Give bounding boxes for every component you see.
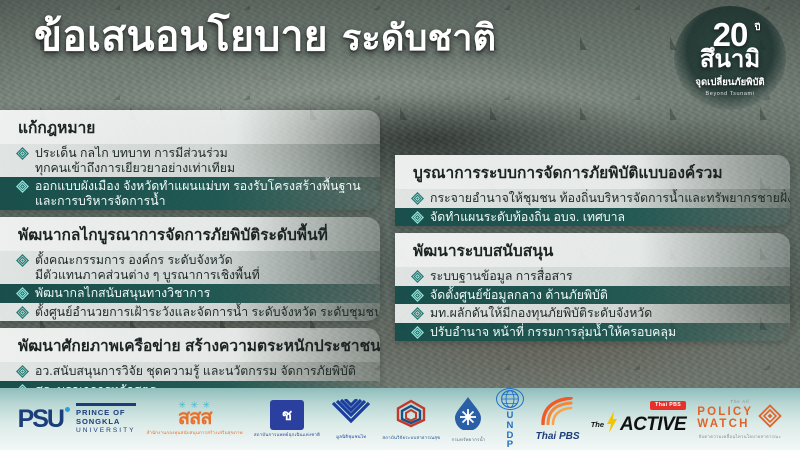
diamond-bullet-icon (411, 289, 424, 302)
thaihealth-caption: สำนักงานกองทุนสนับสนุนการสร้างเสริมสุขภา… (147, 430, 243, 436)
policy-row-text: ออกแบบผังเมือง จังหวัดทำแผนแม่บท รองรับโ… (35, 179, 361, 208)
policy-row-text: ระบบฐานข้อมูล การสื่อสาร (430, 269, 573, 284)
psu-line2: SONGKLA (76, 417, 136, 427)
policy-row-text: อว.สนับสนุนการวิจัย ชุดความรู้ และนวัตกร… (35, 364, 356, 379)
diamond-bullet-icon (411, 307, 424, 320)
policy-watch-line1: POLICY (697, 406, 753, 418)
thaihealth-mark: สสส (178, 408, 212, 428)
the-active-bolt-icon (606, 411, 618, 438)
policy-row-line: และการบริหารจัดการน้ำ (35, 194, 361, 209)
thaipbs-swoosh-icon (537, 397, 579, 430)
psu-dot-icon (65, 407, 70, 412)
thaipbs-wordmark: Thai PBS (536, 431, 580, 442)
policy-row: จัดทำแผนระดับท้องถิ่น อบจ. เทศบาล (395, 208, 790, 227)
policy-row: พัฒนากลไกสนับสนุนทางวิชาการ (0, 284, 380, 303)
page-title-main: ข้อเสนอนโยบาย (34, 16, 328, 57)
logo-emergency-institute: ช สถาบันการแพทย์ฉุกเฉินแห่งชาติ (254, 396, 320, 442)
page-title: ข้อเสนอนโยบาย ระดับชาติ (34, 16, 496, 57)
panel-rows: ระบบฐานข้อมูล การสื่อสารจัดตั้งศูนย์ข้อม… (395, 267, 790, 341)
logo-thaihealth: ✳ ✳ ✳ สสส สำนักงานกองทุนสนับสนุนการสร้าง… (147, 396, 243, 442)
diamond-bullet-icon (16, 254, 29, 267)
policy-row-line: อว.สนับสนุนการวิจัย ชุดความรู้ และนวัตกร… (35, 364, 356, 379)
the-active-wordmark: The ACTIVE (591, 411, 686, 438)
policy-panel-left-2: พัฒนากลไกบูรณาการจัดการภัยพิบัติระดับพื้… (0, 217, 380, 321)
policy-row-text: กระจายอำนาจให้ชุมชน ท้องถิ่นบริหารจัดการ… (430, 191, 790, 206)
policy-row: ออกแบบผังเมือง จังหวัดทำแผนแม่บท รองรับโ… (0, 177, 380, 210)
policy-row: ตั้งคณะกรรมการ องค์กร ระดับจังหวัดมีตัวแ… (0, 251, 380, 284)
psu-mark: PSU (18, 407, 63, 432)
emblem-tagline-en: Beyond Tsunami (706, 91, 755, 97)
the-active-the: The (591, 420, 604, 429)
logo-policy-watch: The All POLICY WATCH จับตาความเคลื่อนไหว… (697, 396, 782, 442)
policy-watch-line2: WATCH (697, 418, 753, 430)
policy-row-line: ระบบฐานข้อมูล การสื่อสาร (430, 269, 573, 284)
fan-rays-icon (331, 399, 371, 432)
the-active-badge: Thai PBS (650, 401, 686, 410)
diamond-bullet-icon (411, 326, 424, 339)
panel-title: พัฒนากลไกบูรณาการจัดการภัยพิบัติระดับพื้… (0, 217, 380, 251)
panel-rows: ประเด็น กลไก บทบาท การมีส่วนร่วมทุกคนเข้… (0, 144, 380, 210)
policy-row: อว.สนับสนุนการวิจัย ชุดความรู้ และนวัตกร… (0, 362, 380, 381)
logo-community-foundation: มูลนิธิชุมชนไท (331, 396, 371, 442)
logo-undp: U N D P (496, 396, 524, 442)
undp-l4: P (507, 440, 515, 450)
diamond-bullet-icon (411, 211, 424, 224)
psu-line1: PRINCE OF (76, 408, 136, 418)
policy-row-line: ตั้งศูนย์อำนวยการเฝ้าระวังและจัดการน้ำ ร… (35, 305, 380, 320)
emblem-tagline: จุดเปลี่ยนภัยพิบัติ (695, 75, 764, 90)
emblem-number-wrap: 20 ปี (713, 19, 748, 51)
policy-row-line: ปรับอำนาจ หน้าที่ กรรมการลุ่มน้ำให้ครอบค… (430, 325, 676, 340)
policy-row: ประเด็น กลไก บทบาท การมีส่วนร่วมทุกคนเข้… (0, 144, 380, 177)
diamond-bullet-icon (16, 306, 29, 319)
panel-rows: กระจายอำนาจให้ชุมชน ท้องถิ่นบริหารจัดการ… (395, 189, 790, 226)
policy-row-text: พัฒนากลไกสนับสนุนทางวิชาการ (35, 286, 210, 301)
policy-row-line: จัดตั้งศูนย์ข้อมูลกลาง ด้านภัยพิบัติ (430, 288, 608, 303)
policy-watch-diamond-icon (758, 404, 782, 433)
policy-row-line: จัดทำแผนระดับท้องถิ่น อบจ. เทศบาล (430, 210, 625, 225)
policy-row-line: กระจายอำนาจให้ชุมชน ท้องถิ่นบริหารจัดการ… (430, 191, 790, 206)
policy-row-line: ตั้งคณะกรรมการ องค์กร ระดับจังหวัด (35, 253, 260, 268)
logo-the-active: Thai PBS The ACTIVE (591, 396, 686, 442)
panel-title: พัฒนาระบบสนับสนุน (395, 233, 790, 267)
panel-title: พัฒนาศักยภาพเครือข่าย สร้างความตระหนักปร… (0, 328, 380, 362)
policy-row: มท.ผลักดันให้มีกองทุนภัยพิบัติระดับจังหว… (395, 304, 790, 323)
psu-wordmark: PRINCE OF SONGKLA UNIVERSITY (76, 403, 136, 436)
infographic-poster: ข้อเสนอนโยบาย ระดับชาติ 20 ปี สึนามิ จุด… (0, 0, 800, 450)
diamond-bullet-icon (16, 365, 29, 378)
water-droplet-icon (452, 396, 484, 435)
emblem-year-unit: ปี (755, 23, 760, 32)
policy-row-line: ประเด็น กลไก บทบาท การมีส่วนร่วม (35, 146, 235, 161)
policy-row-line: ออกแบบผังเมือง จังหวัดทำแผนแม่บท รองรับโ… (35, 179, 361, 194)
policy-panel-left-1: แก้กฎหมายประเด็น กลไก บทบาท การมีส่วนร่ว… (0, 110, 380, 210)
hex-knot-icon (393, 398, 429, 433)
policy-row: จัดตั้งศูนย์ข้อมูลกลาง ด้านภัยพิบัติ (395, 286, 790, 305)
logo-water-resources: กรมทรัพยากรน้ำ (452, 396, 486, 442)
anniversary-emblem: 20 ปี สึนามิ จุดเปลี่ยนภัยพิบัติ Beyond … (674, 6, 786, 110)
policy-row: ระบบฐานข้อมูล การสื่อสาร (395, 267, 790, 286)
policy-row-line: มท.ผลักดันให้มีกองทุนภัยพิบัติระดับจังหว… (430, 306, 652, 321)
partner-logo-bar: PSU PRINCE OF SONGKLA UNIVERSITY ✳ ✳ ✳ ส… (0, 388, 800, 450)
policy-row: กระจายอำนาจให้ชุมชน ท้องถิ่นบริหารจัดการ… (395, 189, 790, 208)
diamond-bullet-icon (16, 147, 29, 160)
policy-row-text: ประเด็น กลไก บทบาท การมีส่วนร่วมทุกคนเข้… (35, 146, 235, 175)
emergency-institute-caption: สถาบันการแพทย์ฉุกเฉินแห่งชาติ (254, 432, 320, 438)
the-active-word: ACTIVE (620, 415, 686, 434)
policy-row-text: ตั้งคณะกรรมการ องค์กร ระดับจังหวัดมีตัวแ… (35, 253, 260, 282)
policy-row-text: จัดตั้งศูนย์ข้อมูลกลาง ด้านภัยพิบัติ (430, 288, 608, 303)
logo-health-research: สถาบันวิจัยระบบสาธารณสุข (382, 396, 440, 442)
policy-row-line: ทุกคนเข้าถึงการเยียวยาอย่างเท่าเทียม (35, 161, 235, 176)
undp-wordmark: U N D P (507, 411, 515, 450)
policy-row-line: มีตัวแทนภาคส่วนต่าง ๆ บูรณาการเชิงพื้นที… (35, 268, 260, 283)
policy-watch-row: POLICY WATCH (697, 404, 782, 433)
policy-row-line: พัฒนากลไกสนับสนุนทางวิชาการ (35, 286, 210, 301)
logo-psu: PSU PRINCE OF SONGKLA UNIVERSITY (18, 396, 136, 442)
panel-title: บูรณาการระบบการจัดการภัยพิบัติแบบองค์รวม (395, 155, 790, 189)
water-resources-caption: กรมทรัพยากรน้ำ (452, 437, 486, 443)
health-research-caption: สถาบันวิจัยระบบสาธารณสุข (382, 435, 440, 441)
policy-row: ตั้งศูนย์อำนวยการเฝ้าระวังและจัดการน้ำ ร… (0, 303, 380, 322)
community-foundation-caption: มูลนิธิชุมชนไท (336, 434, 366, 440)
policy-row-text: ตั้งศูนย์อำนวยการเฝ้าระวังและจัดการน้ำ ร… (35, 305, 380, 320)
diamond-bullet-icon (411, 270, 424, 283)
policy-row-text: ปรับอำนาจ หน้าที่ กรรมการลุ่มน้ำให้ครอบค… (430, 325, 676, 340)
undp-globe-icon (496, 388, 524, 410)
diamond-bullet-icon (411, 192, 424, 205)
policy-watch-caption: จับตาความเคลื่อนไหวนโยบายสาธารณะ (699, 434, 781, 440)
panel-title: แก้กฎหมาย (0, 110, 380, 144)
page-title-sub: ระดับชาติ (342, 20, 496, 56)
emergency-institute-glyph: ช (270, 400, 304, 430)
policy-panel-right-2: พัฒนาระบบสนับสนุนระบบฐานข้อมูล การสื่อสา… (395, 233, 790, 341)
policy-watch-wordmark: POLICY WATCH (697, 406, 753, 430)
policy-panel-right-1: บูรณาการระบบการจัดการภัยพิบัติแบบองค์รวม… (395, 155, 790, 226)
policy-row: ปรับอำนาจ หน้าที่ กรรมการลุ่มน้ำให้ครอบค… (395, 323, 790, 342)
diamond-bullet-icon (16, 180, 29, 193)
psu-line3: UNIVERSITY (76, 427, 136, 435)
policy-row-text: จัดทำแผนระดับท้องถิ่น อบจ. เทศบาล (430, 210, 625, 225)
diamond-bullet-icon (16, 287, 29, 300)
logo-thaipbs: Thai PBS (536, 396, 580, 442)
policy-row-text: มท.ผลักดันให้มีกองทุนภัยพิบัติระดับจังหว… (430, 306, 652, 321)
panel-rows: ตั้งคณะกรรมการ องค์กร ระดับจังหวัดมีตัวแ… (0, 251, 380, 321)
emblem-number: 20 (713, 16, 748, 53)
